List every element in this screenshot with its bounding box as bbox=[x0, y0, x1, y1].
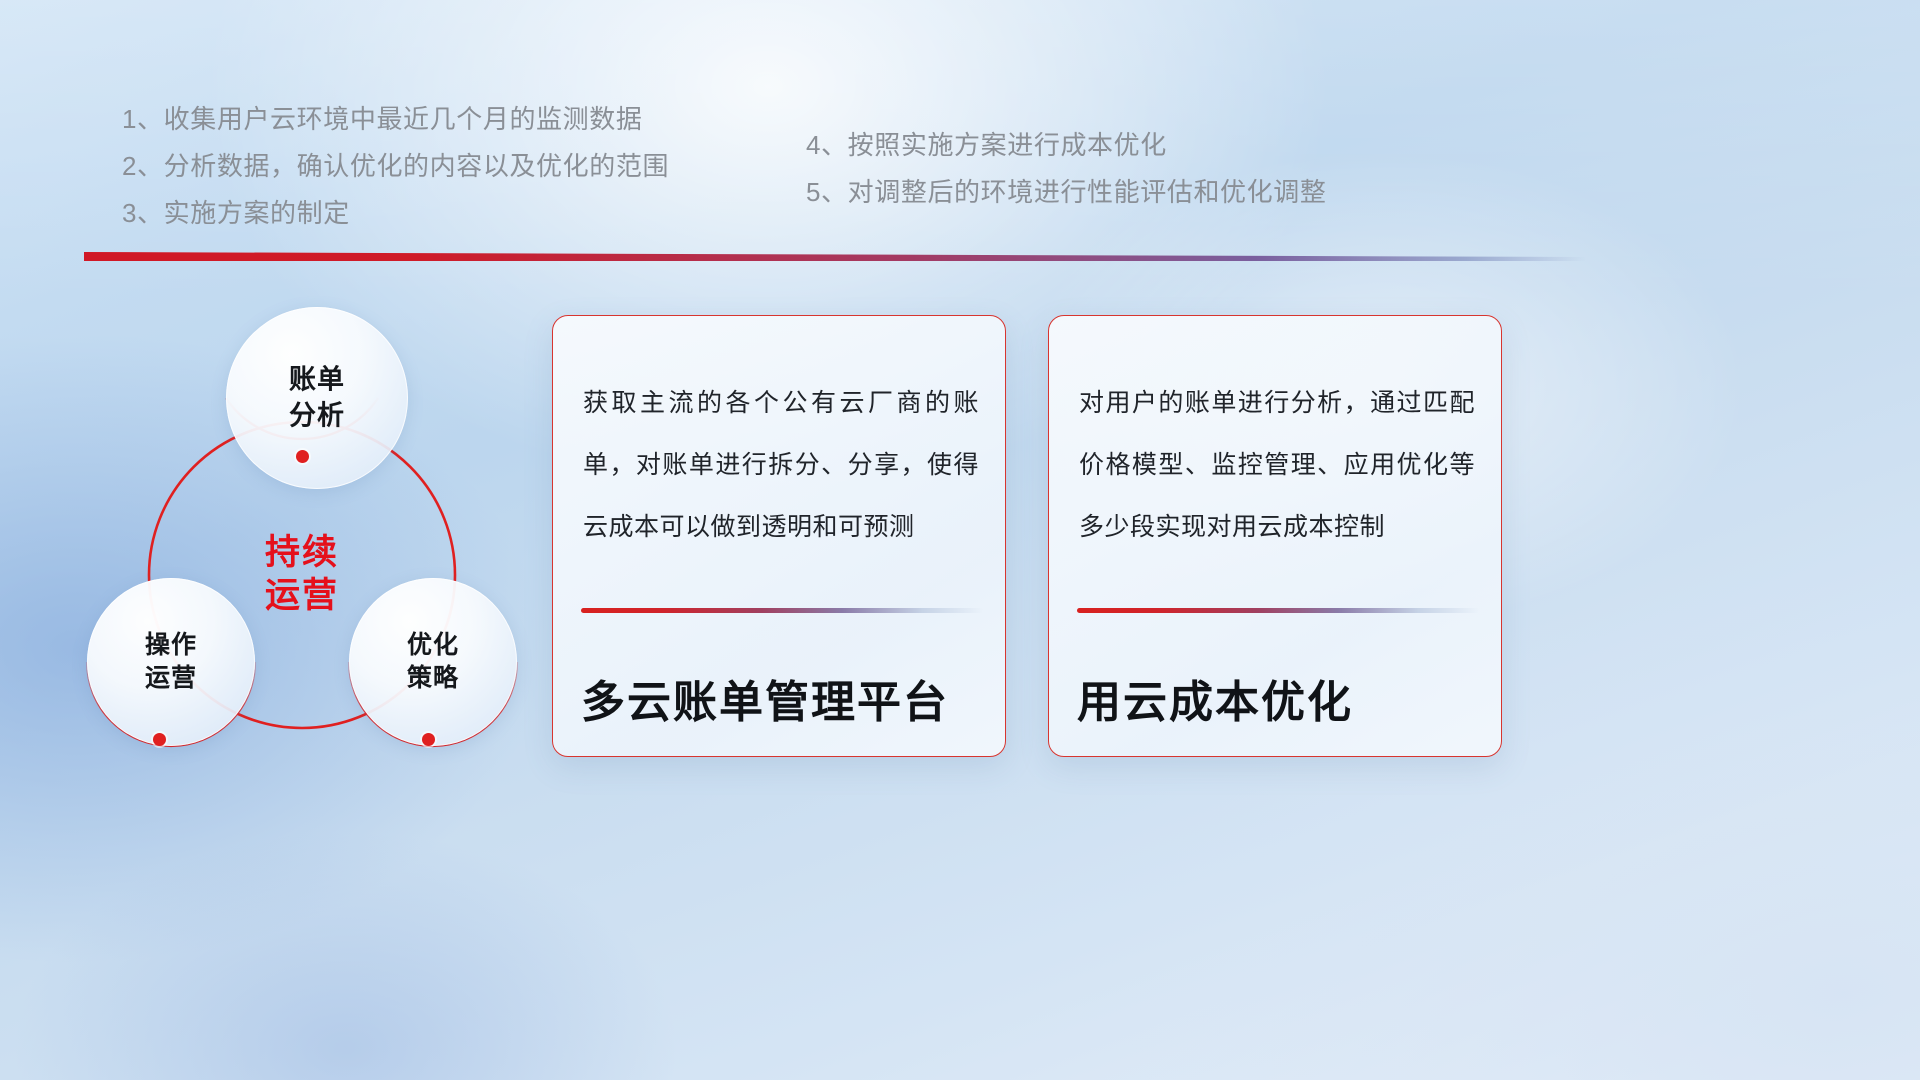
diagram-node-dot-bottom-left bbox=[153, 733, 166, 746]
section-divider-bar bbox=[84, 252, 1586, 261]
diagram-center-label-line2: 运营 bbox=[265, 575, 339, 618]
feature-card-title: 多云账单管理平台 bbox=[581, 666, 985, 730]
process-steps-left-column: 1、收集用户云环境中最近几个月的监测数据 2、分析数据，确认优化的内容以及优化的… bbox=[122, 96, 669, 237]
step-item: 3、实施方案的制定 bbox=[122, 190, 669, 237]
feature-card-multi-cloud-bill-platform[interactable]: 获取主流的各个公有云厂商的账单，对账单进行拆分、分享，使得云成本可以做到透明和可… bbox=[552, 315, 1006, 757]
diagram-center-label-line1: 持续 bbox=[265, 532, 339, 575]
feature-card-title: 用云成本优化 bbox=[1077, 666, 1481, 730]
diagram-center-label: 持续 运营 bbox=[148, 421, 456, 729]
feature-card-body: 获取主流的各个公有云厂商的账单，对账单进行拆分、分享，使得云成本可以做到透明和可… bbox=[583, 372, 979, 558]
process-steps-right-column: 4、按照实施方案进行成本优化 5、对调整后的环境进行性能评估和优化调整 bbox=[806, 122, 1326, 216]
diagram-bubble-label-line1: 账单 bbox=[226, 362, 408, 398]
step-item: 5、对调整后的环境进行性能评估和优化调整 bbox=[806, 169, 1326, 216]
step-item: 4、按照实施方案进行成本优化 bbox=[806, 122, 1326, 169]
step-item: 2、分析数据，确认优化的内容以及优化的范围 bbox=[122, 143, 669, 190]
feature-card-body: 对用户的账单进行分析，通过匹配价格模型、监控管理、应用优化等多少段实现对用云成本… bbox=[1079, 372, 1475, 558]
process-steps: 1、收集用户云环境中最近几个月的监测数据 2、分析数据，确认优化的内容以及优化的… bbox=[0, 0, 1920, 260]
feature-card-divider bbox=[581, 608, 983, 613]
feature-card-cloud-cost-optimization[interactable]: 对用户的账单进行分析，通过匹配价格模型、监控管理、应用优化等多少段实现对用云成本… bbox=[1048, 315, 1502, 757]
diagram-node-dot-bottom-right bbox=[422, 733, 435, 746]
continuous-operation-diagram: 账单 分析 操作 运营 优化 策略 持续 运营 bbox=[75, 290, 555, 770]
section-divider-rule bbox=[84, 252, 1586, 261]
feature-card-divider bbox=[1077, 608, 1479, 613]
step-item: 1、收集用户云环境中最近几个月的监测数据 bbox=[122, 96, 669, 143]
